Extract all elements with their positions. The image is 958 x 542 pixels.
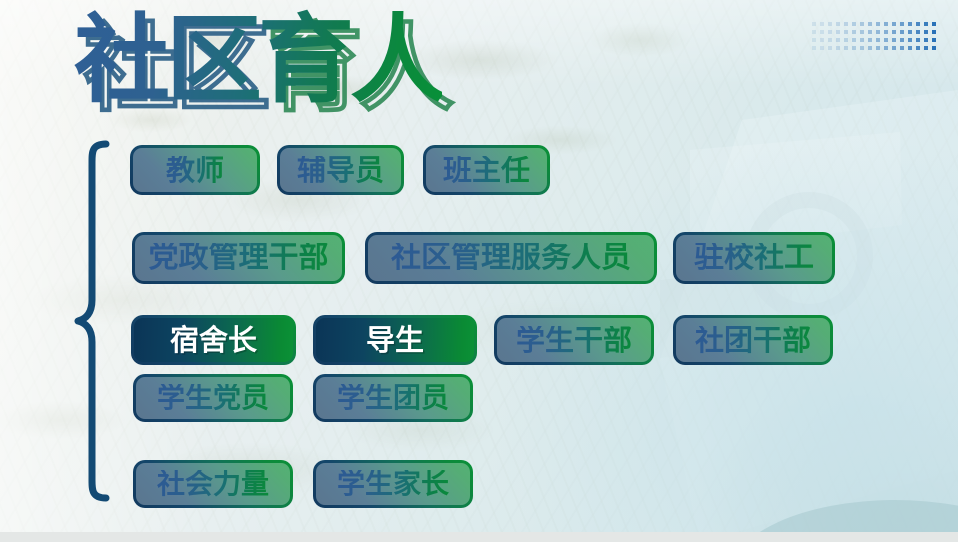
role-chip[interactable]: 宿舍长 [131,315,296,365]
role-chip-label: 社团干部 [695,326,811,355]
role-chip[interactable]: 社区管理服务人员 [365,232,657,284]
role-chip-label: 辅导员 [297,156,384,185]
role-chip-label: 导生 [366,326,424,355]
slide-canvas: 社区育人 社区育人 教师辅导员班主任党政管理干部社区管理服务人员驻校社工宿舍长导… [0,0,958,542]
role-chip-label: 教师 [166,156,224,185]
role-chip[interactable]: 学生党员 [133,374,293,422]
role-chip-label: 学生团员 [337,384,449,412]
role-chip-label: 党政管理干部 [149,243,329,273]
role-chip[interactable]: 教师 [130,145,260,195]
role-chip[interactable]: 导生 [313,315,477,365]
role-chip-label: 班主任 [443,156,530,185]
role-chip-label: 学生干部 [516,326,632,355]
role-chip[interactable]: 学生家长 [313,460,473,508]
role-chip-label: 驻校社工 [694,243,814,273]
role-chip[interactable]: 社会力量 [133,460,293,508]
role-chip-label: 学生家长 [337,470,449,498]
role-chip[interactable]: 党政管理干部 [132,232,345,284]
role-chip-label: 学生党员 [157,384,269,412]
role-chip[interactable]: 辅导员 [277,145,404,195]
role-chip-label: 社会力量 [157,470,269,498]
role-chip-grid: 教师辅导员班主任党政管理干部社区管理服务人员驻校社工宿舍长导生学生干部社团干部学… [0,0,958,542]
role-chip[interactable]: 学生团员 [313,374,473,422]
role-chip[interactable]: 社团干部 [673,315,833,365]
role-chip-label: 社区管理服务人员 [391,243,631,273]
role-chip[interactable]: 学生干部 [494,315,654,365]
role-chip[interactable]: 驻校社工 [673,232,835,284]
role-chip[interactable]: 班主任 [423,145,550,195]
role-chip-label: 宿舍长 [170,326,257,355]
